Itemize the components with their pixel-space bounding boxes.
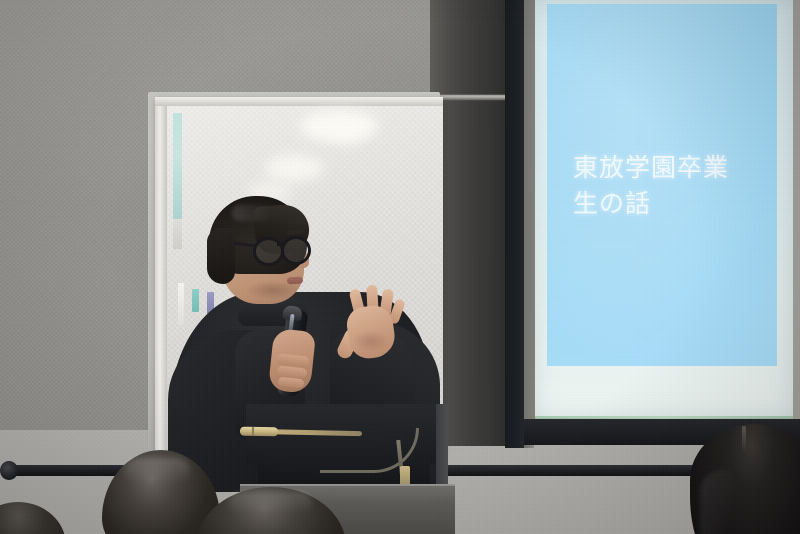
presentation-slide: 東放学園卒業生の話 (547, 4, 777, 366)
screen-rod-end-cap (0, 461, 18, 480)
speaker-hair-highlight (232, 205, 274, 221)
glasses-lens-left (253, 237, 284, 266)
projection-screen: 東放学園卒業生の話 (524, 0, 800, 448)
ceiling-light-reflection (330, 126, 364, 142)
whiteboard-frame-left (155, 97, 167, 454)
recess-dark-gap (505, 0, 524, 448)
podium-side-face (436, 404, 448, 489)
slide-title: 東放学園卒業生の話 (573, 150, 753, 221)
gooseneck-microphone-capsule-band (252, 427, 254, 436)
screen-surface: 東放学園卒業生の話 (535, 0, 793, 418)
gooseneck-microphone-capsule (240, 427, 278, 437)
whiteboard-frame-top (155, 97, 443, 106)
speaker-palm-shadow (352, 330, 390, 352)
lecture-hall-photo: 東放学園卒業生の話 (0, 0, 800, 534)
ceiling-light-reflection (265, 155, 323, 181)
speaker-jaw-shadow (246, 281, 298, 299)
whiteboard-marker-white (178, 283, 184, 325)
glasses-lens-right (281, 236, 311, 265)
whiteboard-marker-teal (192, 289, 199, 312)
audience-hair-part (742, 426, 746, 452)
speaker-hair-side (207, 228, 235, 284)
audience-hair-highlight (700, 470, 744, 534)
audience-hair-highlight (124, 458, 190, 484)
audience-hair-highlight (228, 492, 312, 514)
